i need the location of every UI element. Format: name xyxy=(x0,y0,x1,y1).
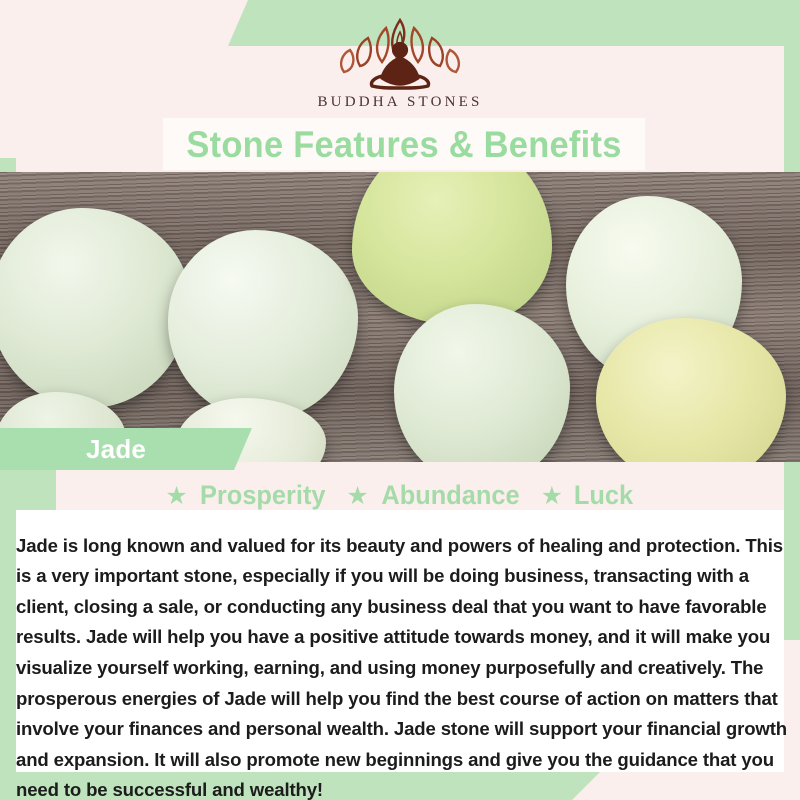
stone-name-label: Jade xyxy=(86,434,146,465)
stone-photo xyxy=(0,172,800,462)
star-icon: ★ xyxy=(346,481,368,511)
lotus-meditation-icon xyxy=(330,16,470,90)
keyword-luck: Luck xyxy=(573,480,632,511)
brand-wordmark: BUDDHA STONES xyxy=(0,94,800,111)
stone-info-card: BUDDHA STONES Stone Features & Benefits … xyxy=(0,0,800,800)
keyword-prosperity: Prosperity xyxy=(200,480,326,511)
star-icon: ★ xyxy=(165,481,187,511)
star-icon: ★ xyxy=(541,481,563,511)
keyword-row: ★ Prosperity ★ Abundance ★ Luck xyxy=(0,480,800,511)
page-title: Stone Features & Benefits xyxy=(186,126,621,163)
title-banner: Stone Features & Benefits xyxy=(163,118,645,170)
stone-name-banner: Jade xyxy=(0,428,252,470)
brand-logo: BUDDHA STONES xyxy=(0,16,800,111)
description-text: Jade is long known and valued for its be… xyxy=(16,531,788,800)
keyword-abundance: Abundance xyxy=(382,480,520,511)
